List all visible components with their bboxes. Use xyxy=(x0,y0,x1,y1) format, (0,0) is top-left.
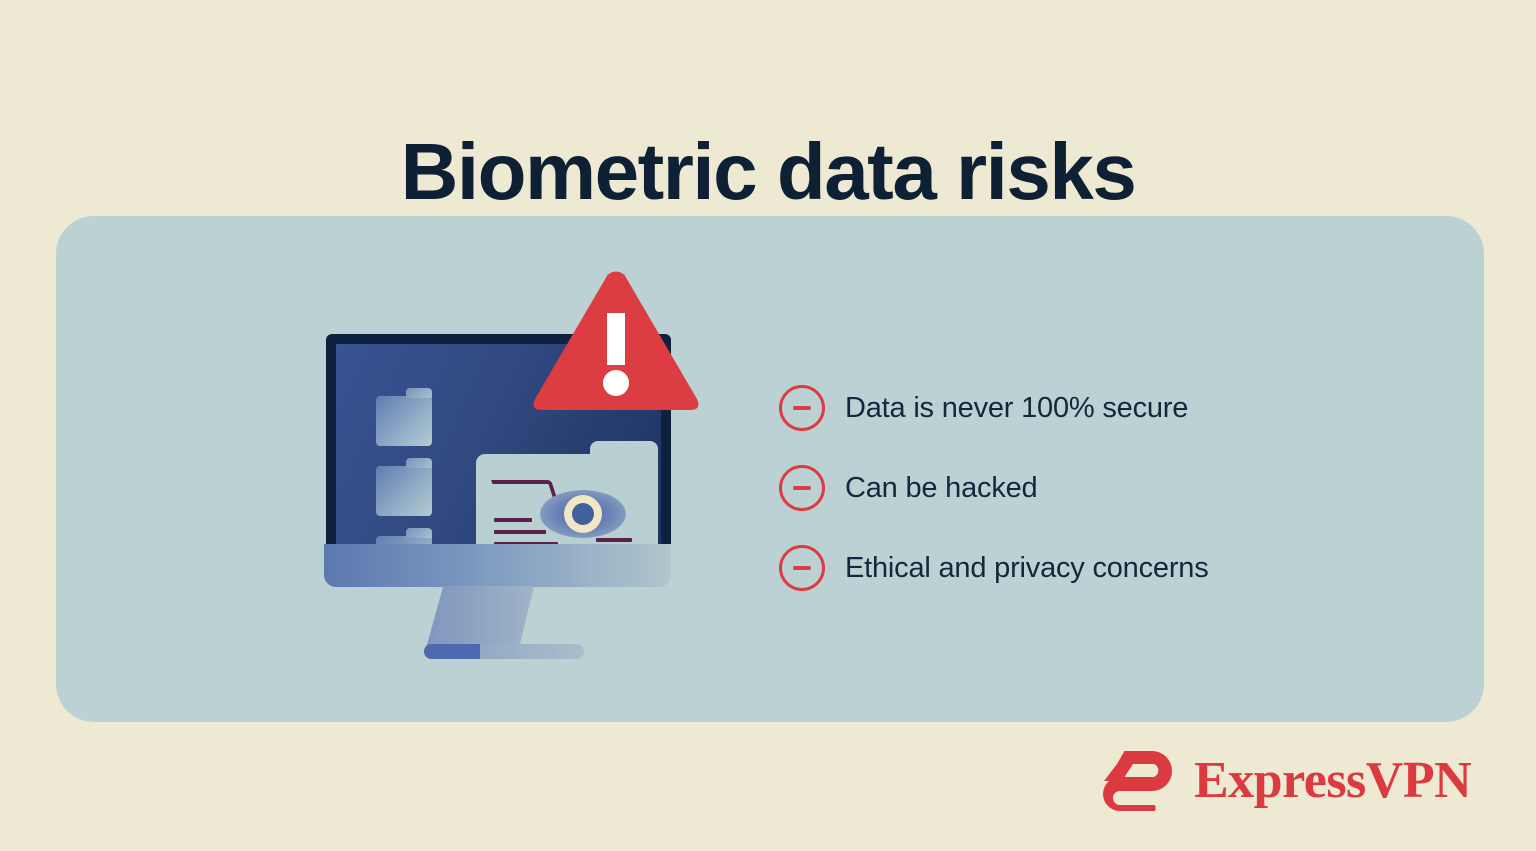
folder-icon xyxy=(376,466,432,516)
folder-tab xyxy=(590,441,658,461)
iris-scan-eye-icon xyxy=(540,490,626,538)
minus-circle-icon xyxy=(779,465,825,511)
risk-list: Data is never 100% secure Can be hacked … xyxy=(779,386,1209,590)
content-card: Data is never 100% secure Can be hacked … xyxy=(56,216,1484,722)
warning-triangle-icon xyxy=(531,268,701,418)
illustration-monitor-biometric-risk xyxy=(256,226,756,686)
document-line xyxy=(494,530,546,534)
list-item-label: Ethical and privacy concerns xyxy=(845,552,1209,585)
expressvpn-wordmark: ExpressVPN xyxy=(1194,755,1471,807)
expressvpn-logo: ExpressVPN xyxy=(1100,748,1471,814)
page-title: Biometric data risks xyxy=(0,132,1536,212)
document-line xyxy=(596,538,632,542)
minus-circle-icon xyxy=(779,545,825,591)
list-item: Can be hacked xyxy=(779,466,1209,510)
folder-icon xyxy=(376,396,432,446)
list-item-label: Can be hacked xyxy=(845,472,1038,505)
eye-pupil xyxy=(572,503,594,525)
monitor-base-accent xyxy=(424,644,480,659)
monitor-stand xyxy=(426,586,534,648)
list-item: Data is never 100% secure xyxy=(779,386,1209,430)
minus-circle-icon xyxy=(779,385,825,431)
document-line xyxy=(494,518,532,522)
list-item-label: Data is never 100% secure xyxy=(845,392,1188,425)
list-item: Ethical and privacy concerns xyxy=(779,546,1209,590)
expressvpn-e-mark-icon xyxy=(1100,748,1178,814)
monitor-chin xyxy=(324,544,671,587)
